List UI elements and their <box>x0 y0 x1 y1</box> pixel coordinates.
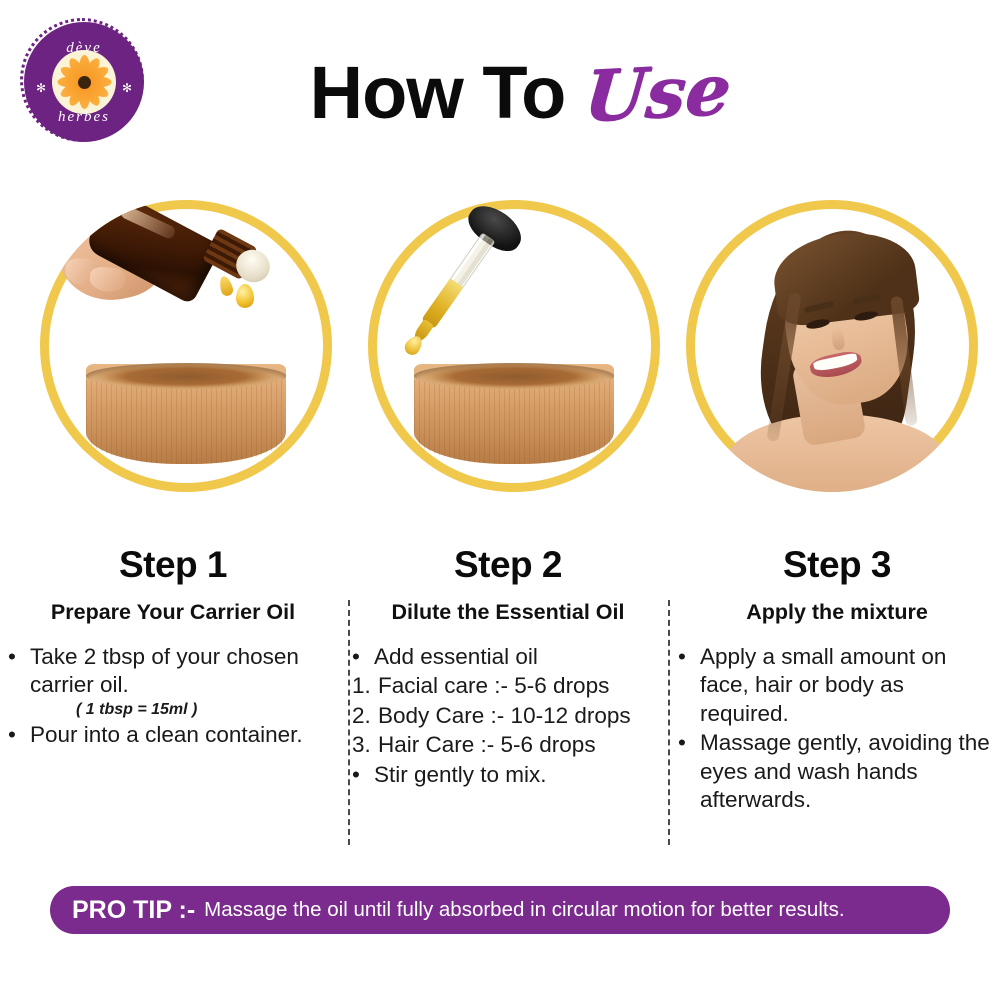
list-item: 3. Hair Care :- 5-6 drops <box>352 731 664 760</box>
list-item: • Massage gently, avoiding the eyes and … <box>678 729 996 815</box>
bullet-marker: • <box>352 761 374 790</box>
step-1-points: • Take 2 tbsp of your chosen carrier oil… <box>8 643 338 700</box>
asterisk-right-icon: ✻ <box>122 82 132 94</box>
title-use-script: Use <box>582 54 734 131</box>
step-3-column: Step 3 Apply the mixture • Apply a small… <box>678 546 996 816</box>
list-item: • Stir gently to mix. <box>352 761 664 790</box>
oil-droplet-1 <box>236 284 254 308</box>
number-marker: 3. <box>352 731 378 760</box>
step-3-subtitle: Apply the mixture <box>678 601 996 625</box>
asterisk-left-icon: ✻ <box>36 82 46 94</box>
list-item: • Take 2 tbsp of your chosen carrier oil… <box>8 643 338 700</box>
list-item: • Apply a small amount on face, hair or … <box>678 643 996 729</box>
wooden-bowl-1 <box>86 364 286 464</box>
step-3-points: • Apply a small amount on face, hair or … <box>678 643 996 815</box>
step-2-points: • Add essential oil 1. Facial care :- 5-… <box>352 643 664 790</box>
bullet-marker: • <box>678 643 700 672</box>
wooden-bowl-2 <box>414 364 614 464</box>
list-item: 2. Body Care :- 10-12 drops <box>352 702 664 731</box>
oil-stream <box>217 275 234 298</box>
woman-portrait <box>686 200 978 492</box>
step-1-image <box>40 200 332 492</box>
step-1-title: Step 1 <box>8 546 338 583</box>
step-2-image <box>368 200 660 492</box>
step-1-points-cont: • Pour into a clean container. <box>8 721 338 750</box>
pro-tip-text: Massage the oil until fully absorbed in … <box>204 898 844 922</box>
number-marker: 1. <box>352 672 378 701</box>
step-1-column: Step 1 Prepare Your Carrier Oil • Take 2… <box>8 546 338 749</box>
glass-dropper-pipette <box>394 204 519 363</box>
pro-tip-banner: PRO TIP :- Massage the oil until fully a… <box>50 886 950 934</box>
list-item: 1. Facial care :- 5-6 drops <box>352 672 664 701</box>
logo-bottom-text: herbes <box>18 109 150 126</box>
list-item-text: Stir gently to mix. <box>374 761 664 790</box>
list-item-text: Apply a small amount on face, hair or bo… <box>700 643 996 729</box>
marigold-flower-icon <box>56 54 112 110</box>
bullet-marker: • <box>678 729 700 758</box>
step-2-subtitle: Dilute the Essential Oil <box>352 601 664 625</box>
bullet-marker: • <box>352 643 374 672</box>
pro-tip-label: PRO TIP :- <box>72 896 195 925</box>
page-title: How To Use <box>200 38 840 148</box>
step-image-row <box>0 200 1000 500</box>
step-2-title: Step 2 <box>352 546 664 583</box>
list-item-text: Add essential oil <box>374 643 664 672</box>
step-3-title: Step 3 <box>678 546 996 583</box>
list-item-text: Body Care :- 10-12 drops <box>378 702 664 731</box>
list-item: • Pour into a clean container. <box>8 721 338 750</box>
list-item-text: Massage gently, avoiding the eyes and wa… <box>700 729 996 815</box>
brand-logo: dève herbes ✻ ✻ <box>18 16 150 148</box>
number-marker: 2. <box>352 702 378 731</box>
bullet-marker: • <box>8 643 30 672</box>
bullet-marker: • <box>8 721 30 750</box>
list-item: • Add essential oil <box>352 643 664 672</box>
step-1-note: ( 1 tbsp = 15ml ) <box>76 701 338 719</box>
step-2-column: Step 2 Dilute the Essential Oil • Add es… <box>352 546 664 790</box>
step-3-image <box>686 200 978 492</box>
step-1-subtitle: Prepare Your Carrier Oil <box>8 601 338 625</box>
logo-top-text: dève <box>18 40 150 57</box>
list-item-text: Pour into a clean container. <box>30 721 338 750</box>
list-item-text: Facial care :- 5-6 drops <box>378 672 664 701</box>
flower-center <box>78 76 91 89</box>
list-item-text: Take 2 tbsp of your chosen carrier oil. <box>30 643 338 700</box>
title-how-to: How To <box>310 56 566 130</box>
list-item-text: Hair Care :- 5-6 drops <box>378 731 664 760</box>
steps-section: Step 1 Prepare Your Carrier Oil • Take 2… <box>0 546 1000 866</box>
